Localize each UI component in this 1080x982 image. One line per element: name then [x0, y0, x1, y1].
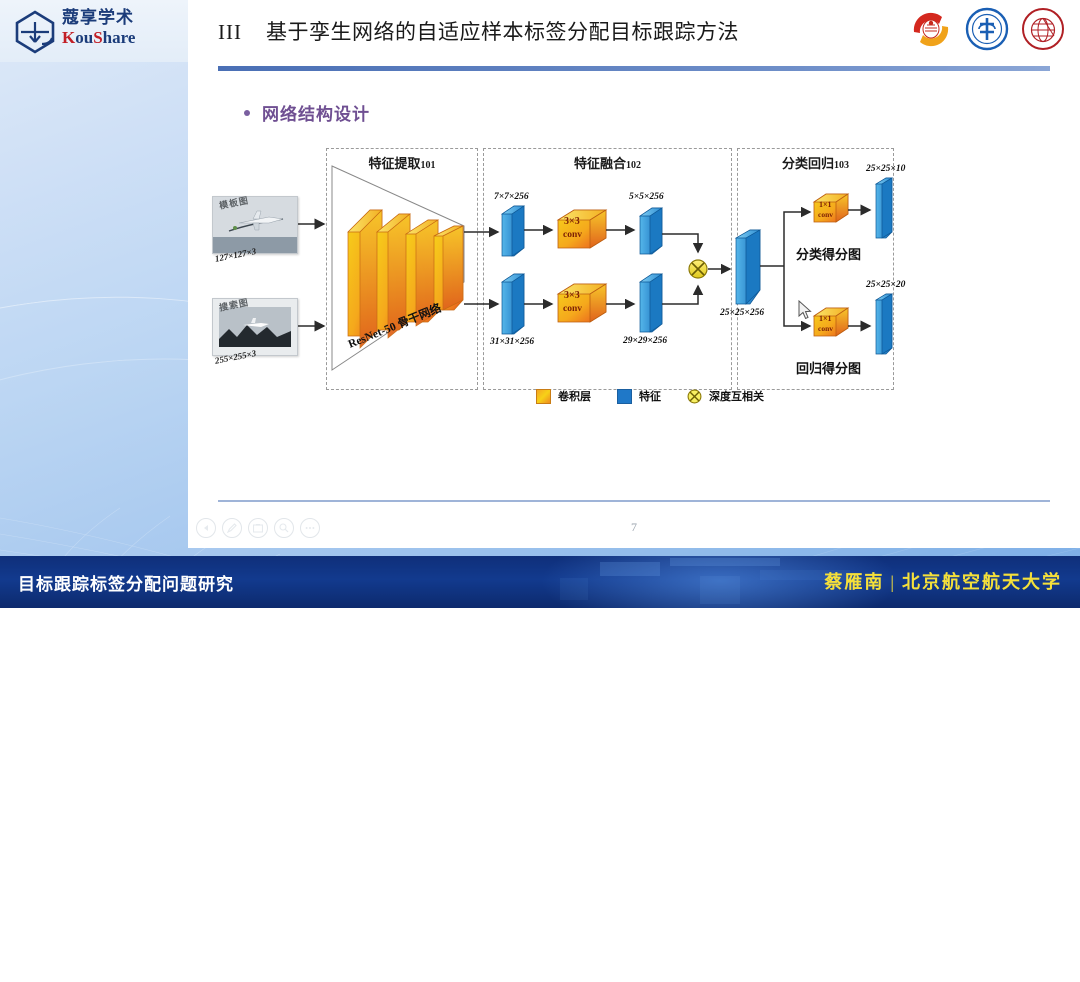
legend-label-correlation: 深度互相关 — [709, 388, 764, 404]
dim-top-out: 5×5×256 — [629, 192, 664, 202]
dim-bottom-out: 29×29×256 — [623, 336, 667, 346]
reg-head-op-label: conv — [818, 324, 833, 333]
dim-correlation-out: 25×25×256 — [720, 308, 764, 318]
legend-swatch-feature — [617, 389, 632, 404]
legend-feature: 特征 — [617, 388, 661, 404]
dim-regression-out: 25×25×20 — [866, 280, 905, 290]
diagram-shapes-layer: ResNet-50 骨干网络 — [202, 140, 1072, 420]
classification-score-map-label: 分类得分图 — [796, 244, 861, 263]
presentation-slide: 蔻享学术 KouShare III基于孪生网络的自适应样本标签分配目标跟踪方法 — [188, 0, 1080, 548]
section-number: III — [218, 20, 242, 44]
logo-cas-red-yellow — [908, 6, 954, 52]
footer-divider — [218, 500, 1050, 502]
legend-swatch-conv — [536, 389, 551, 404]
conv-kernel-label-top: 3×3 — [564, 216, 580, 227]
regression-score-map-label: 回归得分图 — [796, 358, 861, 377]
conv-kernel-label-bottom: 3×3 — [564, 290, 580, 301]
network-architecture-diagram: 特征提取101 特征融合102 分类回归103 — [202, 140, 1072, 420]
koushare-english-name: KouShare — [62, 28, 135, 48]
page-title: III基于孪生网络的自适应样本标签分配目标跟踪方法 — [218, 16, 739, 46]
presenter-affiliation: 北京航空航天大学 — [902, 572, 1062, 592]
footer-bar: 目标跟踪标签分配问题研究 蔡雁南|北京航空航天大学 — [0, 556, 1080, 608]
mouse-cursor — [798, 300, 812, 320]
title-text: 基于孪生网络的自适应样本标签分配目标跟踪方法 — [266, 20, 739, 44]
diagram-legend: 卷积层 特征 深度互相关 — [536, 388, 764, 404]
bullet-label: 网络结构设计 — [262, 100, 370, 125]
dim-top-in: 7×7×256 — [494, 192, 529, 202]
reg-head-kernel-label: 1×1 — [819, 314, 832, 323]
legend-conv-layer: 卷积层 — [536, 388, 591, 404]
legend-depthwise-correlation: 深度互相关 — [687, 388, 764, 404]
dim-classification-out: 25×25×10 — [866, 164, 905, 174]
presenter-name: 蔡雁南 — [824, 572, 884, 592]
footer-decoration — [700, 576, 740, 604]
conv-op-label-top: conv — [563, 230, 582, 240]
legend-label-conv: 卷积层 — [558, 388, 591, 404]
logo-blue-institute — [964, 6, 1010, 52]
page-number: 7 — [188, 520, 1080, 535]
koushare-chinese-name: 蔻享学术 — [62, 8, 135, 28]
title-underline — [218, 66, 1050, 71]
cls-head-kernel-label: 1×1 — [819, 200, 832, 209]
footer-research-title: 目标跟踪标签分配问题研究 — [18, 570, 234, 595]
footer-decoration — [560, 578, 588, 600]
footer-decoration — [600, 562, 660, 576]
depthwise-correlation-icon — [689, 260, 707, 278]
footer-decoration — [670, 558, 780, 566]
institution-logos — [908, 6, 1066, 52]
koushare-branding: 蔻享学术 KouShare — [0, 0, 188, 62]
section-bullet: 网络结构设计 — [244, 100, 370, 125]
dim-bottom-in: 31×31×256 — [490, 337, 534, 347]
koushare-hexagon-logo — [12, 10, 58, 54]
footer-separator: | — [890, 572, 896, 592]
bullet-dot — [244, 110, 250, 116]
legend-swatch-correlation — [687, 389, 702, 404]
footer-presenter-info: 蔡雁南|北京航空航天大学 — [824, 568, 1062, 594]
conv-op-label-bottom: conv — [563, 304, 582, 314]
logo-beihang-university — [1020, 6, 1066, 52]
cls-head-op-label: conv — [818, 210, 833, 219]
legend-label-feature: 特征 — [639, 388, 661, 404]
